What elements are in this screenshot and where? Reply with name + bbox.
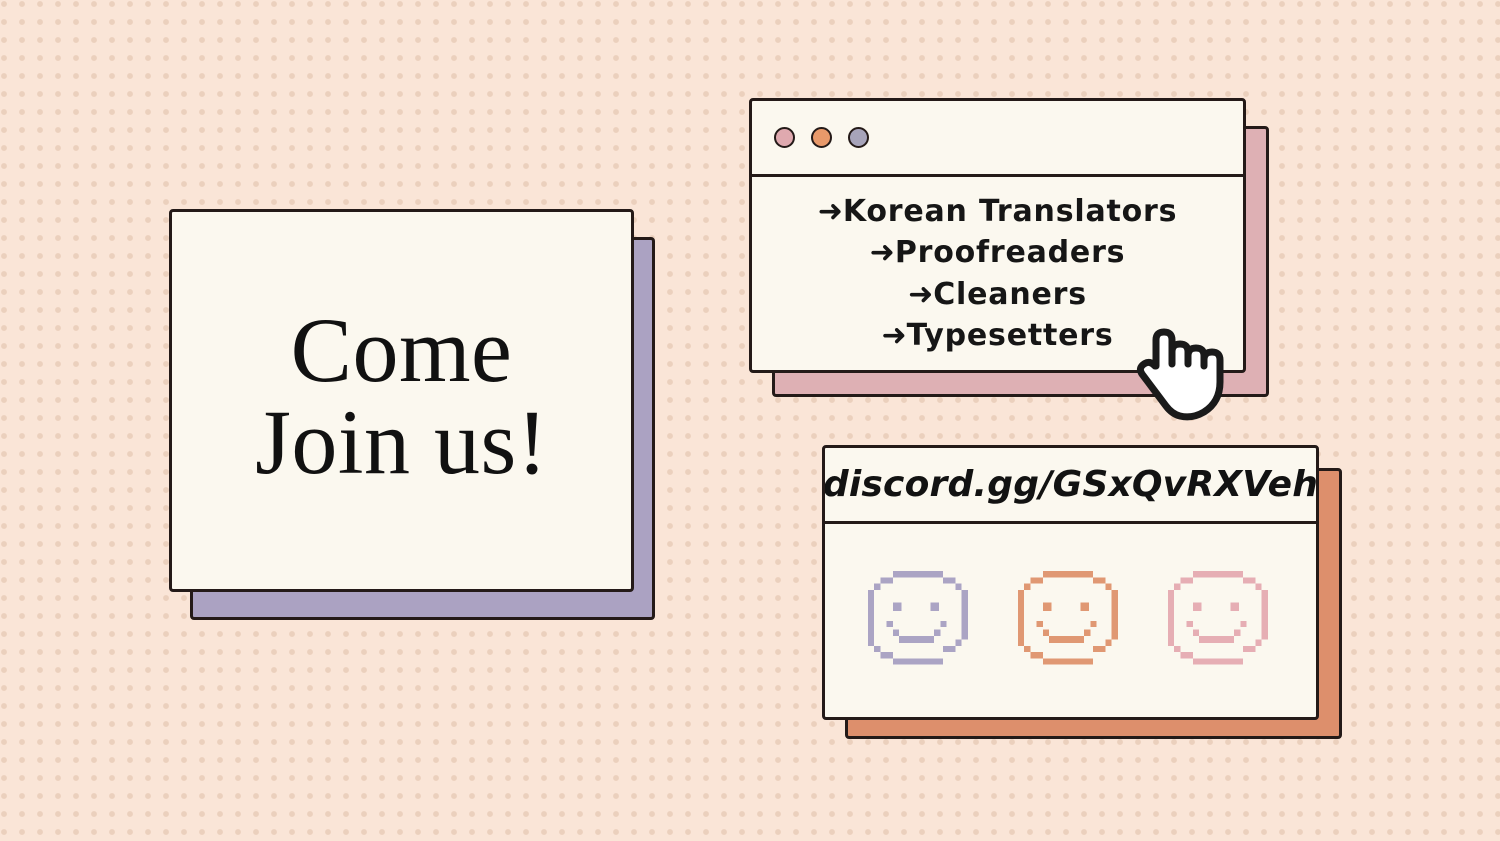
join-card-title: Come Join us! bbox=[255, 305, 548, 495]
list-item: ➜Proofreaders bbox=[870, 232, 1126, 273]
arrow-right-icon: ➜ bbox=[818, 194, 843, 229]
window-titlebar bbox=[752, 101, 1243, 177]
discord-invite-link[interactable]: discord.gg/GSxQvRXVeh bbox=[823, 464, 1318, 505]
window-minimize-dot-icon[interactable] bbox=[811, 127, 832, 148]
list-item: ➜Cleaners bbox=[908, 274, 1087, 315]
smiley-row bbox=[825, 524, 1316, 717]
role-label: Typesetters bbox=[907, 318, 1114, 353]
arrow-right-icon: ➜ bbox=[870, 235, 895, 270]
arrow-right-icon: ➜ bbox=[908, 277, 933, 312]
window-close-dot-icon[interactable] bbox=[774, 127, 795, 148]
arrow-right-icon: ➜ bbox=[881, 318, 906, 353]
window-maximize-dot-icon[interactable] bbox=[848, 127, 869, 148]
role-label: Proofreaders bbox=[895, 235, 1126, 270]
role-label: Cleaners bbox=[933, 277, 1087, 312]
pointing-hand-cursor-icon bbox=[1134, 306, 1230, 422]
discord-card: discord.gg/GSxQvRXVeh bbox=[822, 445, 1319, 720]
join-card: Come Join us! bbox=[169, 209, 634, 592]
list-item: ➜Typesetters bbox=[881, 315, 1113, 356]
smiley-pink-icon bbox=[1168, 570, 1274, 672]
poster-canvas: Come Join us! ➜Korean Translators ➜Proof… bbox=[0, 0, 1500, 841]
role-label: Korean Translators bbox=[843, 194, 1177, 229]
discord-url-bar[interactable]: discord.gg/GSxQvRXVeh bbox=[825, 448, 1316, 524]
smiley-orange-icon bbox=[1018, 570, 1124, 672]
list-item: ➜Korean Translators bbox=[818, 191, 1178, 232]
smiley-purple-icon bbox=[868, 570, 974, 672]
